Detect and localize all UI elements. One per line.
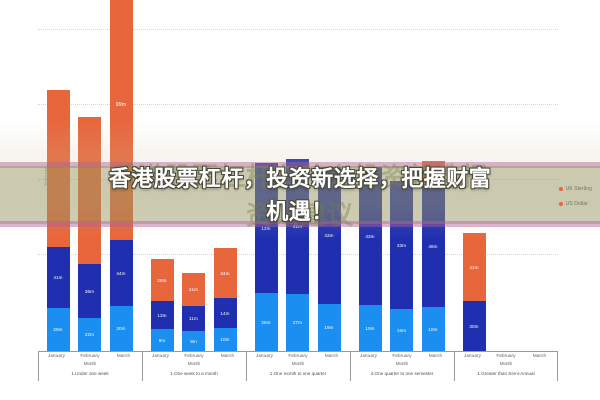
legend-swatch-icon	[559, 202, 563, 206]
bar-group-one-week-to-a-month: 28m 13m 9m 21m 11m 8m 34m 14m 10m	[142, 6, 246, 351]
bar-row[interactable]: 28m 13m 9m	[151, 259, 174, 351]
bar-group-under-one-week: 41m 29m 36m 22m 99m 44m 30m	[38, 6, 142, 351]
segment-value: 41m	[293, 224, 302, 229]
xtick-january: January	[354, 353, 384, 358]
segment-value: 9m	[159, 338, 166, 343]
segment-value: 26m	[261, 320, 270, 325]
segment-value: 19m	[365, 326, 374, 331]
screenshot-root: 200m 150m 100m 50m 0m Volume 41m 29m 36m…	[0, 0, 600, 400]
x-axis-month-row: January February March Month 1.Under one…	[38, 351, 558, 376]
tick-divider	[557, 351, 558, 381]
segment-orange	[47, 90, 70, 247]
xtick-january: January	[250, 353, 280, 358]
segment-navy: 36m	[78, 264, 101, 318]
segment-orange: 41m	[463, 233, 486, 301]
x-group-label: 1.Greater than Semi-Annual	[454, 366, 558, 376]
bar-row[interactable]: 12m 26m	[255, 163, 278, 351]
bar-row[interactable]: 33m 16m	[390, 181, 413, 351]
segment-value: 29m	[53, 327, 62, 332]
segment-navy: 43m	[318, 167, 341, 304]
x-group-1: January February March Month 1.Under one…	[38, 351, 142, 376]
x-group-3: January February March Month 1.One month…	[246, 351, 350, 376]
segment-value: 27m	[293, 320, 302, 325]
xtick-january: January	[42, 353, 72, 358]
segment-blue: 16m	[390, 309, 413, 351]
segment-value: 41m	[53, 275, 62, 280]
bar-row[interactable]: 43m 19m	[318, 167, 341, 351]
segment-value: 34m	[220, 271, 229, 276]
x-sub-label-month: Month	[350, 358, 454, 366]
segment-value: 13m	[157, 313, 166, 318]
tick-divider	[454, 351, 455, 381]
x-sub-label-month: Month	[454, 358, 558, 366]
tick-divider	[246, 351, 247, 381]
segment-navy: 41m	[286, 159, 309, 294]
segment-navy: 30m	[463, 301, 486, 351]
segment-blue: 27m	[286, 294, 309, 351]
segment-value: 36m	[85, 289, 94, 294]
segment-value: 43m	[324, 233, 333, 238]
segment-value: 22m	[85, 332, 94, 337]
xtick-february: February	[179, 353, 209, 358]
segment-value: 33m	[397, 243, 406, 248]
segment-value: 19m	[324, 325, 333, 330]
bar-groups: 41m 29m 36m 22m 99m 44m 30m 28m 1	[38, 6, 558, 351]
segment-value: 12m	[428, 171, 437, 176]
bar-row[interactable]: 41m 29m	[47, 90, 70, 351]
segment-orange: 99m	[110, 0, 133, 240]
bar-group-one-month-to-one-quarter: 12m 26m 41m 27m 43m 19m	[246, 6, 350, 351]
xtick-january: January	[146, 353, 176, 358]
bar-group-one-quarter-to-one-semester: 43m 19m 33m 16m 12m 48m 18m	[350, 6, 454, 351]
segment-navy: 44m	[110, 240, 133, 306]
segment-navy: 12m	[255, 163, 278, 293]
chart-legend: UK Sterling US Dollar	[559, 186, 592, 207]
segment-value: 30m	[116, 326, 125, 331]
legend-swatch-icon	[559, 187, 563, 191]
legend-item-us-dollar[interactable]: US Dollar	[559, 201, 592, 207]
bar-row[interactable]: 12m 48m 18m	[422, 161, 445, 351]
bar-row[interactable]: 43m 19m	[359, 167, 382, 351]
segment-blue: 30m	[110, 306, 133, 351]
x-group-label: 1.One month to one quarter	[246, 366, 350, 376]
x-sub-label-month: Month	[38, 358, 142, 366]
x-group-label: 4.One quarter to one semester	[350, 366, 454, 376]
segment-orange: 21m	[182, 273, 205, 306]
segment-blue: 10m	[214, 328, 237, 351]
x-group-label: 1.One week to a month	[142, 366, 246, 376]
segment-value: 21m	[189, 287, 198, 292]
bar-row[interactable]: 99m 44m 30m	[110, 0, 133, 351]
xtick-february: February	[387, 353, 417, 358]
x-group-5: January February March Month 1.Greater t…	[454, 351, 558, 376]
segment-orange: 12m	[422, 161, 445, 185]
x-axis: January February March Month 1.Under one…	[38, 351, 558, 376]
legend-item-uk-sterling[interactable]: UK Sterling	[559, 186, 592, 192]
segment-value: 30m	[469, 324, 478, 329]
segment-navy: 11m	[182, 306, 205, 331]
segment-navy: 13m	[151, 301, 174, 329]
segment-value: 10m	[220, 337, 229, 342]
segment-blue: 26m	[255, 293, 278, 351]
bar-row[interactable]: 21m 11m 8m	[182, 273, 205, 351]
x-group-4: January February March Month 4.One quart…	[350, 351, 454, 376]
bar-row[interactable]: 41m 30m	[463, 233, 486, 351]
x-group-2: January February March Month 1.One week …	[142, 351, 246, 376]
bar-row[interactable]: 36m 22m	[78, 117, 101, 351]
legend-label: US Dollar	[566, 201, 588, 207]
xtick-march: March	[109, 353, 139, 358]
bar-group-greater-than-semi-annual: 41m 30m	[454, 6, 558, 351]
xtick-march: March	[421, 353, 451, 358]
xtick-march: March	[317, 353, 347, 358]
tick-divider	[350, 351, 351, 381]
segment-value: 28m	[157, 278, 166, 283]
segment-blue: 19m	[359, 305, 382, 351]
segment-navy: 33m	[390, 181, 413, 309]
xtick-january: January	[458, 353, 488, 358]
xtick-february: February	[75, 353, 105, 358]
segment-blue: 18m	[422, 307, 445, 351]
segment-blue: 29m	[47, 308, 70, 351]
xtick-february: February	[491, 353, 521, 358]
tick-divider	[142, 351, 143, 381]
segment-orange	[78, 117, 101, 264]
xtick-march: March	[525, 353, 555, 358]
legend-label: UK Sterling	[566, 186, 592, 192]
segment-navy: 43m	[359, 167, 382, 305]
bar-row[interactable]: 34m 14m 10m	[214, 248, 237, 351]
segment-blue: 9m	[151, 329, 174, 351]
segment-orange: 34m	[214, 248, 237, 298]
segment-blue: 22m	[78, 318, 101, 351]
segment-value: 43m	[365, 234, 374, 239]
segment-value: 41m	[469, 265, 478, 270]
segment-value: 18m	[428, 327, 437, 332]
segment-value: 44m	[116, 271, 125, 276]
segment-value: 12m	[261, 226, 270, 231]
chart-plot-area: 200m 150m 100m 50m 0m Volume 41m 29m 36m…	[38, 6, 558, 351]
segment-value: 16m	[397, 328, 406, 333]
segment-navy: 48m	[422, 185, 445, 307]
segment-navy: 14m	[214, 298, 237, 328]
x-sub-label-month: Month	[142, 358, 246, 366]
x-group-label: 1.Under one week	[38, 366, 142, 376]
xtick-march: March	[213, 353, 243, 358]
segment-value: 11m	[189, 316, 198, 321]
x-sub-label-month: Month	[246, 358, 350, 366]
segment-orange: 28m	[151, 259, 174, 301]
segment-value: 14m	[220, 311, 229, 316]
segment-value: 8m	[190, 339, 197, 344]
segment-blue: 19m	[318, 304, 341, 351]
tick-divider	[38, 351, 39, 381]
bar-row[interactable]: 41m 27m	[286, 159, 309, 351]
segment-blue: 8m	[182, 331, 205, 351]
segment-value: 99m	[116, 102, 126, 108]
segment-value: 48m	[428, 244, 437, 249]
segment-navy: 41m	[47, 247, 70, 308]
xtick-february: February	[283, 353, 313, 358]
